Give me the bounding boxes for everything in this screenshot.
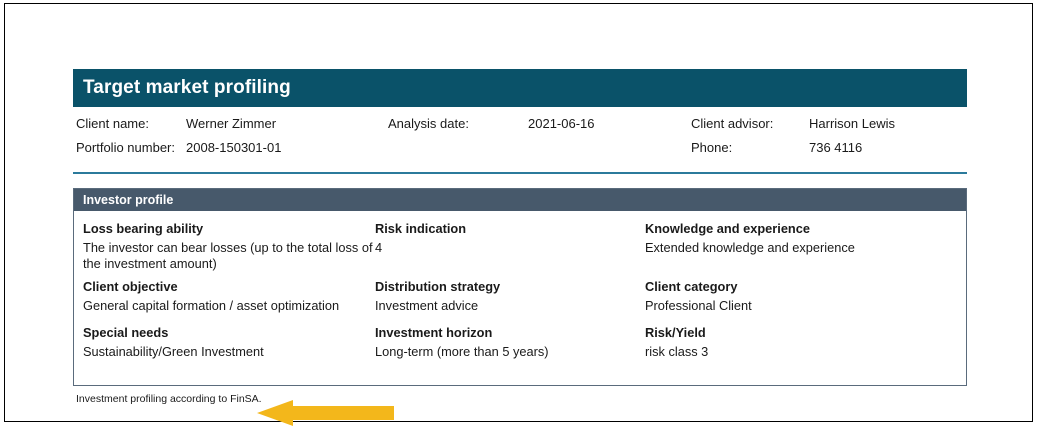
- investor-profile-section-header: Investor profile: [74, 189, 966, 211]
- investor-profile-section-title: Investor profile: [83, 193, 173, 207]
- profile-row: Special needs Sustainability/Green Inves…: [74, 325, 966, 371]
- left-arrow-annotation-icon: [257, 400, 394, 426]
- field-loss-bearing-ability: Loss bearing ability The investor can be…: [83, 221, 373, 272]
- document-content: Target market profiling Client name: Wer…: [73, 69, 967, 405]
- field-value: Extended knowledge and experience: [645, 240, 960, 256]
- field-investment-horizon: Investment horizon Long-term (more than …: [375, 325, 643, 360]
- field-value: risk class 3: [645, 344, 960, 360]
- field-value: Sustainability/Green Investment: [83, 344, 373, 360]
- phone-value: 736 4116: [809, 140, 862, 155]
- field-label: Client category: [645, 279, 960, 295]
- field-special-needs: Special needs Sustainability/Green Inves…: [83, 325, 373, 360]
- field-label: Knowledge and experience: [645, 221, 960, 237]
- client-meta-block: Client name: Werner Zimmer Portfolio num…: [73, 116, 967, 164]
- portfolio-number-value: 2008-150301-01: [186, 140, 281, 155]
- client-name-label: Client name:: [76, 116, 149, 131]
- phone-label: Phone:: [691, 140, 732, 155]
- field-value: Investment advice: [375, 298, 643, 314]
- field-distribution-strategy: Distribution strategy Investment advice: [375, 279, 643, 314]
- field-value: Professional Client: [645, 298, 960, 314]
- field-risk-indication: Risk indication 4: [375, 221, 643, 256]
- field-label: Investment horizon: [375, 325, 643, 341]
- field-label: Risk indication: [375, 221, 643, 237]
- profile-row: Loss bearing ability The investor can be…: [74, 221, 966, 279]
- analysis-date-value: 2021-06-16: [528, 116, 595, 131]
- field-knowledge-and-experience: Knowledge and experience Extended knowle…: [645, 221, 960, 256]
- client-advisor-value: Harrison Lewis: [809, 116, 895, 131]
- field-client-objective: Client objective General capital formati…: [83, 279, 373, 314]
- field-label: Risk/Yield: [645, 325, 960, 341]
- field-value: 4: [375, 240, 643, 256]
- client-advisor-label: Client advisor:: [691, 116, 773, 131]
- field-label: Client objective: [83, 279, 373, 295]
- field-value: The investor can bear losses (up to the …: [83, 240, 373, 272]
- analysis-date-label: Analysis date:: [388, 116, 469, 131]
- portfolio-number-label: Portfolio number:: [76, 140, 175, 155]
- field-value: Long-term (more than 5 years): [375, 344, 643, 360]
- field-label: Special needs: [83, 325, 373, 341]
- field-risk-yield: Risk/Yield risk class 3: [645, 325, 960, 360]
- footnote: Investment profiling according to FinSA.: [73, 393, 967, 405]
- field-label: Distribution strategy: [375, 279, 643, 295]
- document-title-bar: Target market profiling: [73, 69, 967, 107]
- field-value: General capital formation / asset optimi…: [83, 298, 373, 314]
- document-page-frame: Target market profiling Client name: Wer…: [4, 3, 1033, 422]
- page-title: Target market profiling: [83, 77, 291, 98]
- investor-profile-fields: Loss bearing ability The investor can be…: [74, 211, 966, 385]
- investor-profile-box: Investor profile Loss bearing ability Th…: [73, 188, 967, 386]
- field-label: Loss bearing ability: [83, 221, 373, 237]
- section-divider: [73, 172, 967, 174]
- profile-row: Client objective General capital formati…: [74, 279, 966, 325]
- client-name-value: Werner Zimmer: [186, 116, 276, 131]
- field-client-category: Client category Professional Client: [645, 279, 960, 314]
